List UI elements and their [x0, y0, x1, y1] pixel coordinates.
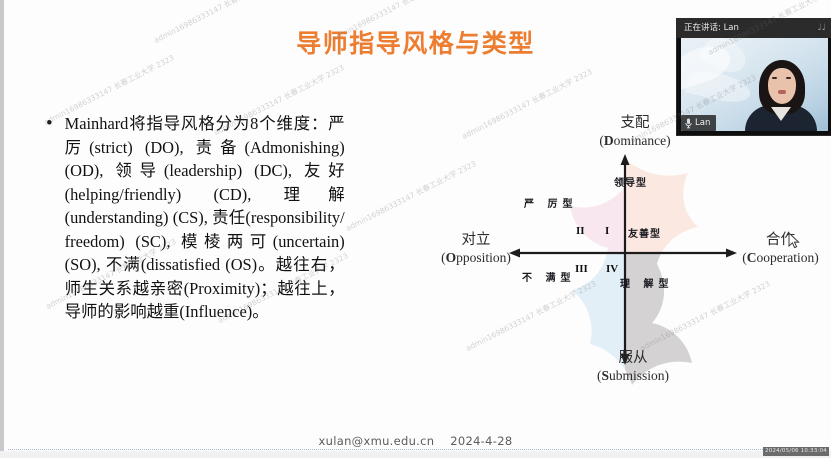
- quadrant-3-label-dissatisfied: 不 满型: [522, 272, 575, 285]
- bullet-list: • Mainhard将指导风格分为8个维度：严厉(strict) (DO), 责…: [42, 112, 362, 324]
- person-eye: [772, 77, 777, 79]
- video-speaking-status: 正在讲话: Lan ♩♩: [677, 19, 831, 38]
- speaker-webcam-person: [745, 60, 817, 131]
- microphone-icon: [685, 118, 692, 129]
- quadrant-numeral-two: II: [576, 225, 585, 237]
- slide-bottom-shadow: [0, 451, 831, 458]
- flower-petal-decoration: [685, 67, 753, 108]
- quadrant-numeral-four: IV: [606, 263, 618, 275]
- person-face: [768, 68, 796, 104]
- axis-label-cooperation-cn: 合作: [718, 232, 831, 249]
- axis-label-submission-cn: 服从: [568, 350, 698, 367]
- slide-footer: xulan@xmu.edu.cn 2024-4-28: [0, 434, 831, 448]
- quadrant-2-label-strict: 严 厉型: [524, 198, 577, 211]
- mouse-pointer-icon: [788, 232, 800, 249]
- video-speaking-status-text: 正在讲话: Lan: [684, 23, 739, 33]
- person-mouth: [778, 90, 786, 94]
- footer-email: xulan@xmu.edu.cn: [319, 434, 435, 448]
- recording-timestamp: 2024/05/06 10:33:04: [763, 447, 829, 456]
- participant-name-text: Lan: [695, 115, 710, 131]
- quadrant-numeral-one: I: [605, 225, 609, 237]
- footer-date: 2024-4-28: [450, 434, 512, 448]
- dominance-cooperation-quadrant-diagram: 支配 (Dominance) 服从 (Submission) 对立 (Oppos…: [420, 115, 831, 405]
- axis-label-submission-en: (Submission): [568, 367, 698, 384]
- quadrant-numeral-three: III: [575, 263, 588, 275]
- axis-label-opposition-en: (Opposition): [416, 249, 536, 266]
- presentation-screen-share: 导师指导风格与类型 • Mainhard将指导风格分为8个维度：严厉(stric…: [0, 0, 831, 458]
- axis-label-opposition-cn: 对立: [416, 232, 536, 249]
- person-eye: [786, 77, 791, 79]
- footer-divider: [8, 449, 823, 451]
- quadrant-1-label-leadership: 领导型: [614, 177, 647, 190]
- slide-left-edge: [0, 0, 4, 458]
- speaker-video-panel[interactable]: 正在讲话: Lan ♩♩ Lan: [676, 18, 831, 136]
- axis-label-submission: 服从 (Submission): [568, 350, 698, 384]
- axis-label-cooperation: 合作 (Cooperation): [718, 232, 831, 266]
- quadrant-4-label-understanding: 理 解型: [620, 278, 673, 291]
- axis-label-opposition: 对立 (Opposition): [416, 232, 536, 266]
- bullet-marker: •: [42, 112, 53, 136]
- volume-icon: ♩♩: [818, 23, 827, 34]
- quadrant-1-label-friendly: 友善型: [628, 228, 661, 241]
- bullet-body-text: Mainhard将指导风格分为8个维度：严厉(strict) (DO), 责备(…: [65, 112, 345, 324]
- axis-label-cooperation-en: (Cooperation): [718, 249, 831, 266]
- participant-name-badge: Lan: [681, 115, 716, 131]
